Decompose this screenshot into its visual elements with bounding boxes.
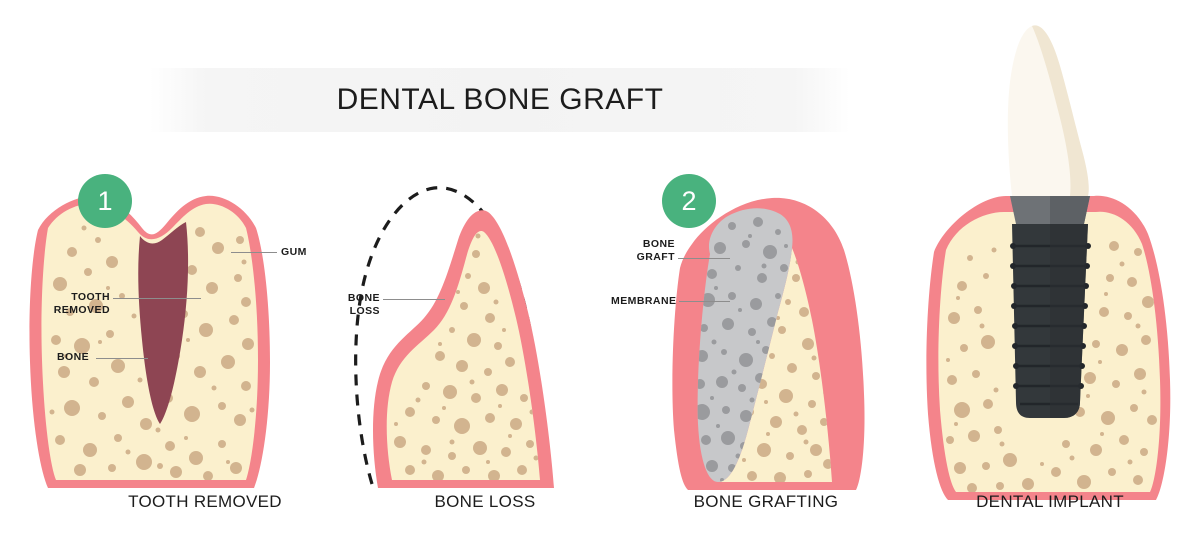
callout-tooth-removed: TOOTH REMOVED (50, 291, 110, 317)
callout-membrane-line1: MEMBRANE (611, 295, 676, 308)
caption-tooth-removed: TOOTH REMOVED (55, 492, 355, 512)
step-panel-bone-grafting: 3 (600, 0, 900, 545)
caption-dental-implant: DENTAL IMPLANT (900, 492, 1200, 512)
implant-screw (1010, 224, 1091, 418)
callout-tooth-line1: TOOTH (50, 291, 110, 304)
leader-line-membrane (679, 301, 730, 302)
dental-implant-illustration (900, 0, 1200, 545)
leader-line-bone-loss (383, 299, 445, 300)
callout-bone: BONE (57, 351, 89, 364)
callout-bone-loss-line1: BONE (336, 292, 380, 305)
bone-layer (387, 231, 540, 482)
caption-bone-grafting: BONE GRAFTING (616, 492, 916, 512)
leader-line-gum (231, 252, 277, 253)
infographic-canvas: DENTAL BONE GRAFT (0, 0, 1200, 545)
callout-bone-graft-line1: BONE (629, 238, 675, 251)
leader-line-tooth-removed (113, 298, 201, 299)
bone-loss-illustration (300, 0, 600, 545)
step-badge-1: 1 (78, 174, 132, 228)
callout-bone-graft-line2: GRAFT (629, 251, 675, 264)
step-panel-bone-loss: 2 (300, 0, 600, 545)
step-panel-dental-implant: 4 (900, 0, 1200, 545)
leader-line-bone (96, 358, 148, 359)
callout-membrane: MEMBRANE (611, 295, 676, 308)
callout-bone-line1: BONE (57, 351, 89, 364)
callout-bone-loss: BONE LOSS (336, 292, 380, 318)
bone-grafting-illustration (600, 0, 900, 545)
leader-line-bone-graft (678, 258, 730, 259)
callout-bone-graft: BONE GRAFT (629, 238, 675, 264)
callout-bone-loss-line2: LOSS (336, 305, 380, 318)
caption-bone-loss: BONE LOSS (335, 492, 635, 512)
tooth-removed-illustration (0, 0, 300, 545)
callout-tooth-line2: REMOVED (50, 304, 110, 317)
implant-crown (1008, 25, 1089, 196)
implant-abutment (1010, 196, 1090, 224)
step-panel-tooth-removed: 1 (0, 0, 300, 545)
